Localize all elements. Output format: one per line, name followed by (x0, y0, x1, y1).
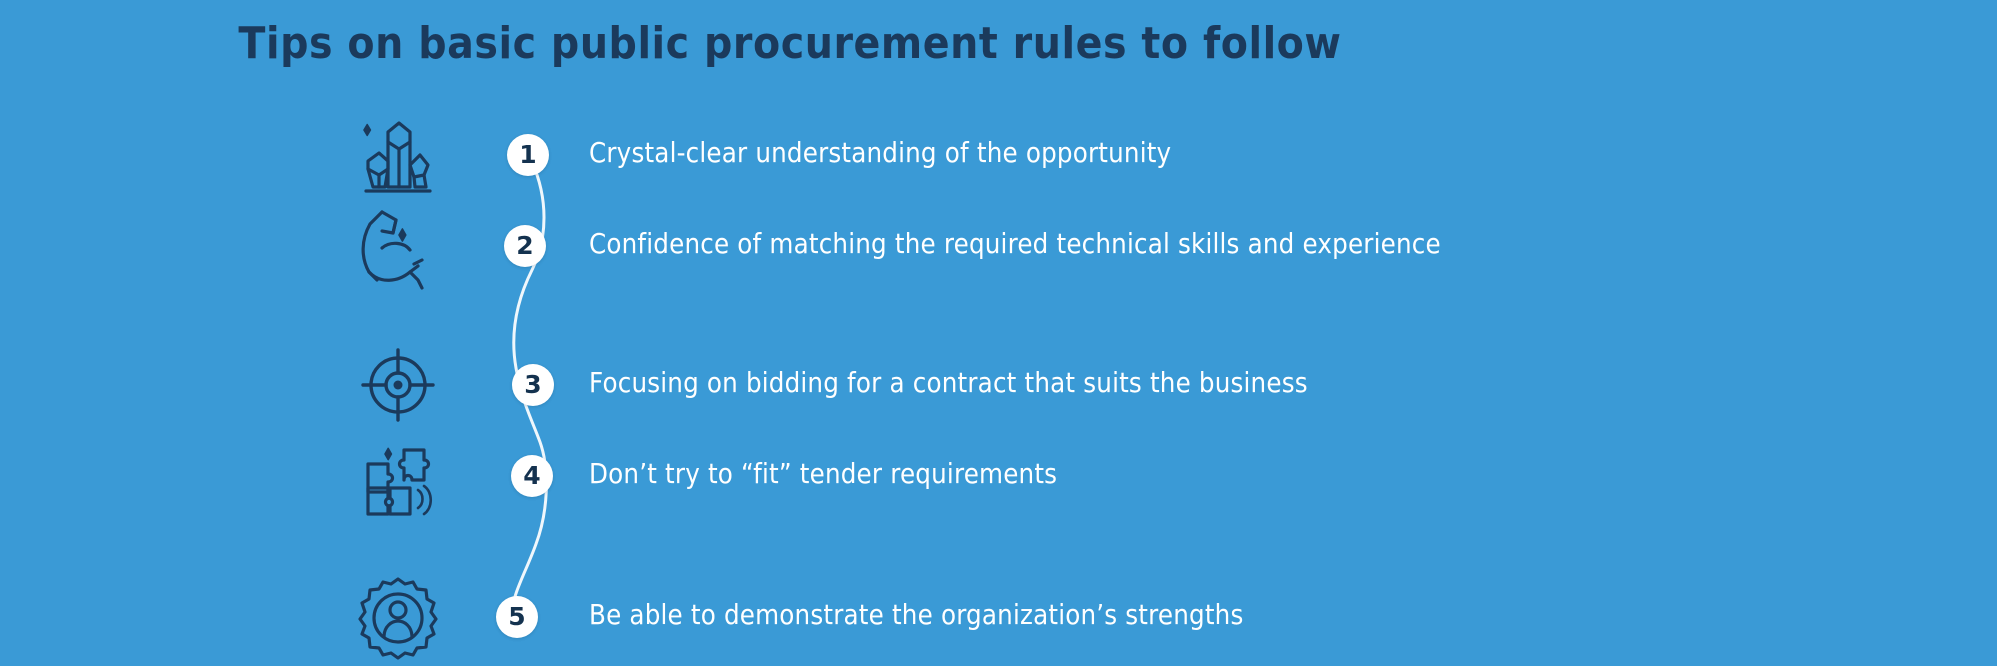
list-item-label: Don’t try to “fit” tender requirements (589, 452, 1057, 496)
list-item[interactable]: 5 Be able to demonstrate the organizatio… (0, 571, 1997, 663)
list-item-number: 4 (511, 455, 553, 497)
list-item[interactable]: 3 Focusing on bidding for a contract tha… (0, 339, 1997, 431)
list-item[interactable]: 1 Crystal-clear understanding of the opp… (0, 109, 1997, 201)
list-item-label: Be able to demonstrate the organization’… (589, 593, 1244, 637)
list-item-number: 3 (512, 364, 554, 406)
flexed-bicep-icon (352, 200, 444, 292)
tips-list: 1 Crystal-clear understanding of the opp… (0, 0, 1997, 666)
infographic-canvas: Tips on basic public procurement rules t… (0, 0, 1997, 666)
list-item-number: 2 (504, 225, 546, 267)
crosshair-target-icon (352, 339, 444, 431)
list-item-label: Focusing on bidding for a contract that … (589, 361, 1308, 405)
puzzle-pieces-icon (352, 430, 444, 522)
list-item[interactable]: 4 Don’t try to “fit” tender requirements (0, 430, 1997, 522)
list-item-label: Crystal-clear understanding of the oppor… (589, 131, 1171, 175)
list-item-number: 5 (496, 596, 538, 638)
list-item-number: 1 (507, 134, 549, 176)
gear-person-icon (352, 571, 444, 663)
crystals-icon (352, 109, 444, 201)
list-item[interactable]: 2 Confidence of matching the required te… (0, 200, 1997, 292)
list-item-label: Confidence of matching the required tech… (589, 222, 1441, 266)
